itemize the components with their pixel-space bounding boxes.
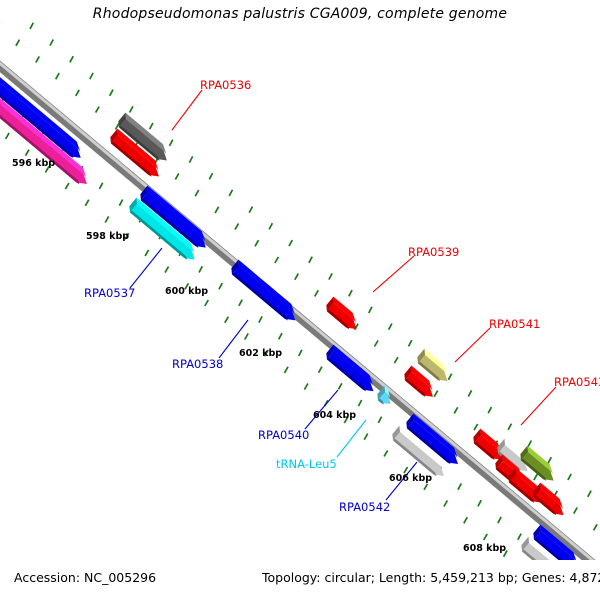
genome-summary-text: Topology: circular; Length: 5,459,213 bp…: [262, 570, 600, 585]
gene-label-rpa0542[interactable]: RPA0542: [339, 500, 390, 514]
gene-label-rpa0541[interactable]: RPA0541: [489, 317, 540, 331]
axis-tick-label-0: 596 kbp: [12, 158, 55, 169]
gene-arrow[interactable]: [228, 260, 301, 325]
genome-map-viewer[interactable]: Rhodopseudomonas palustris CGA009, compl…: [0, 0, 600, 600]
gene-label-rpa0540[interactable]: RPA0540: [258, 428, 309, 442]
status-bar: Accession: NC_005296 Topology: circular;…: [0, 560, 600, 600]
genome-map-canvas[interactable]: [0, 0, 600, 600]
axis-tick-label-2: 600 kbp: [165, 286, 208, 297]
axis-tick-label-1: 598 kbp: [86, 231, 129, 242]
gene-label-rpa0543[interactable]: RPA0543: [554, 375, 600, 389]
axis-tick-label-4: 604 kbp: [313, 410, 356, 421]
gene-label-rpa0537[interactable]: RPA0537: [84, 286, 135, 300]
gene-arrow[interactable]: [323, 345, 379, 396]
gene-label-rpa0538[interactable]: RPA0538: [172, 357, 223, 371]
axis-tick-label-5: 606 kbp: [389, 473, 432, 484]
axis-tick-label-3: 602 kbp: [239, 348, 282, 359]
gene-label-trna-leu5[interactable]: tRNA-Leu5: [276, 457, 337, 471]
axis-tick-label-6: 608 kbp: [463, 543, 506, 554]
gene-label-rpa0539[interactable]: RPA0539: [408, 245, 459, 259]
gene-arrow[interactable]: [323, 297, 362, 334]
gene-label-rpa0536[interactable]: RPA0536: [200, 78, 251, 92]
accession-text: Accession: NC_005296: [14, 570, 156, 585]
